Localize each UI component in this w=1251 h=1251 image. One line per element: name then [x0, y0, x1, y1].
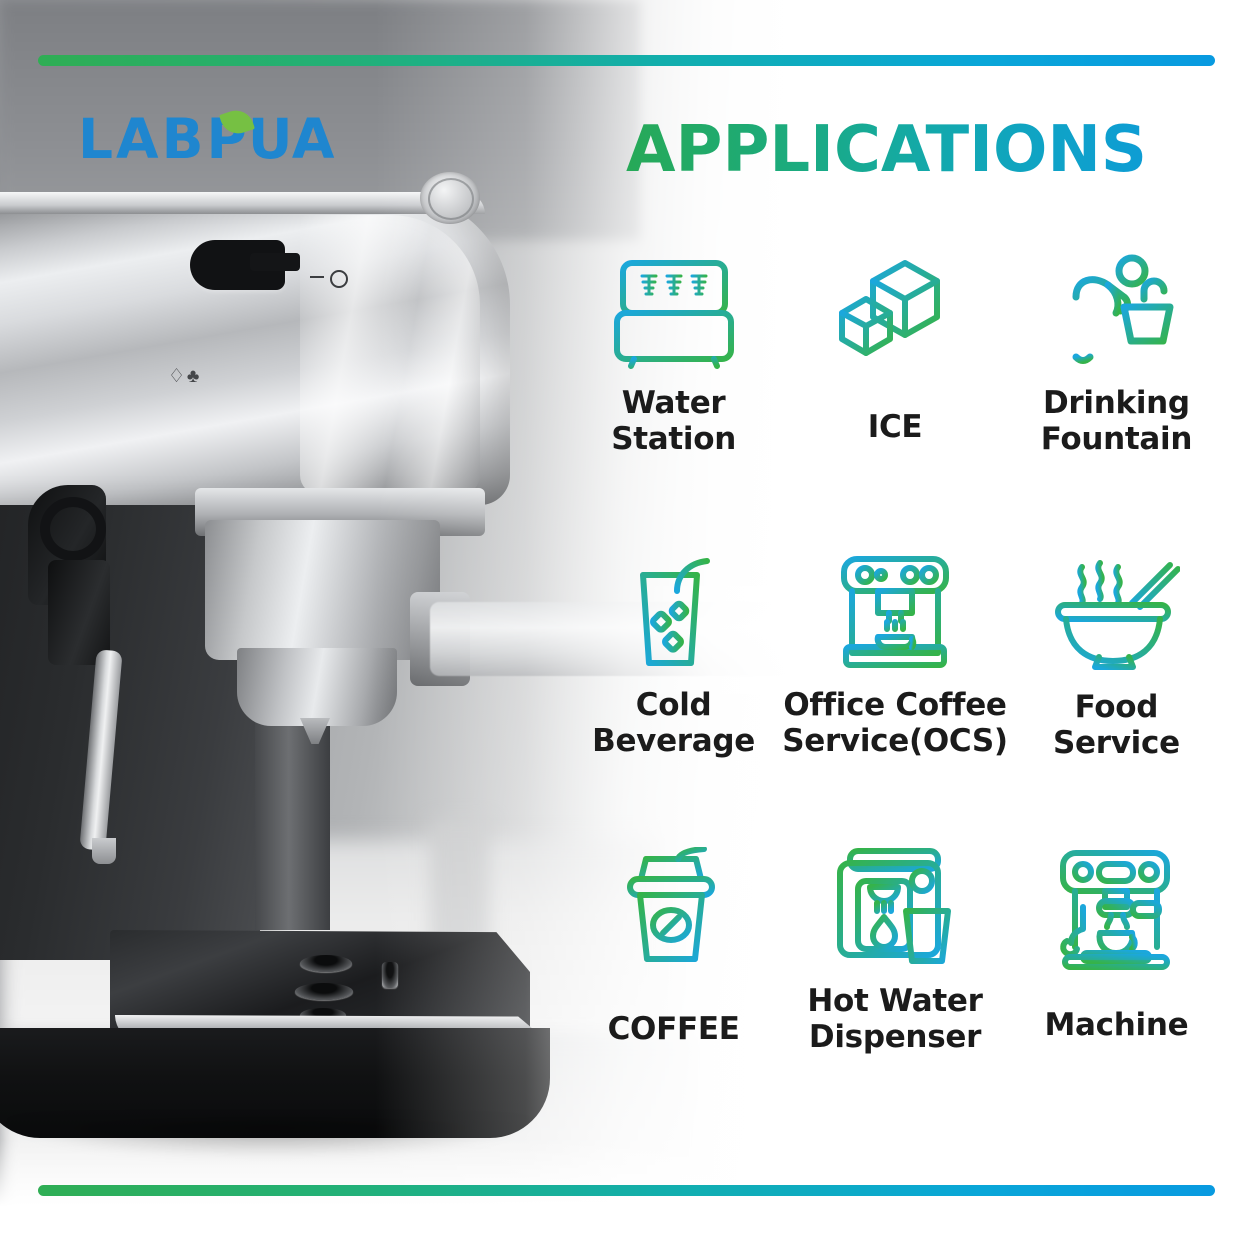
machine-steam-knob-loop [40, 497, 106, 561]
machine-portafilter [205, 520, 440, 660]
drinking-fountain-icon [1054, 245, 1178, 380]
hot-water-dispenser-icon [832, 838, 958, 978]
application-label: Hot Water Dispenser [782, 984, 1008, 1056]
coffee-machine-icon [834, 542, 956, 682]
application-label: COFFEE [608, 1012, 740, 1048]
page-title: APPLICATIONS [626, 118, 1186, 182]
application-label: Machine [1044, 1008, 1188, 1044]
application-item-hot-water-dispenser[interactable]: Hot Water Dispenser [782, 838, 1008, 1135]
togo-coffee-cup-icon [618, 838, 730, 978]
machine-marking-dot [330, 270, 348, 288]
machine-steam-label [56, 578, 116, 628]
application-item-drinking-fountain[interactable]: Drinking Fountain [1008, 245, 1225, 542]
applications-grid: Water Station ICE [565, 245, 1225, 1135]
application-label: ICE [868, 410, 923, 446]
application-label: Cold Beverage [565, 688, 782, 760]
application-item-machine[interactable]: Machine [1008, 838, 1225, 1135]
application-item-food-service[interactable]: Food Service [1008, 542, 1225, 839]
bottom-gradient-rule [38, 1185, 1215, 1196]
drip-tray-hole [295, 983, 353, 1000]
application-label: Water Station [565, 386, 782, 458]
noodle-bowl-icon [1052, 542, 1180, 682]
machine-symbol-icons: ♢ ♣ [168, 365, 228, 391]
application-label: Drinking Fountain [1008, 386, 1225, 458]
espresso-machine-icon [1053, 838, 1179, 978]
water-station-icon [612, 245, 736, 380]
application-item-ice[interactable]: ICE [782, 245, 1008, 542]
drip-tray-hole [300, 955, 352, 972]
top-gradient-rule [38, 55, 1215, 66]
brand-logo: LABPUA [78, 112, 335, 167]
machine-dial-ring [428, 178, 474, 220]
logo-text-lab: LAB [78, 107, 207, 171]
machine-top-edge [0, 192, 485, 214]
machine-base-shadow [0, 1120, 540, 1160]
machine-marking-dash [310, 276, 324, 278]
application-label: Food Service [1008, 690, 1225, 762]
application-item-office-coffee-service[interactable]: Office Coffee Service(OCS) [782, 542, 1008, 839]
application-item-water-station[interactable]: Water Station [565, 245, 782, 542]
application-label: Office Coffee Service(OCS) [782, 688, 1008, 760]
machine-filter-basket [237, 648, 397, 726]
application-item-cold-beverage[interactable]: Cold Beverage [565, 542, 782, 839]
ice-cubes-icon [833, 245, 957, 380]
machine-lever [250, 253, 300, 271]
machine-housing-highlight [300, 215, 480, 495]
drip-tray-slot [382, 962, 398, 988]
cold-beverage-glass-icon [615, 542, 733, 682]
application-item-coffee[interactable]: COFFEE [565, 838, 782, 1135]
applications-infographic: ♢ ♣ LABPUA APPLICATIONS [0, 0, 1251, 1251]
machine-steam-tip [92, 838, 116, 864]
